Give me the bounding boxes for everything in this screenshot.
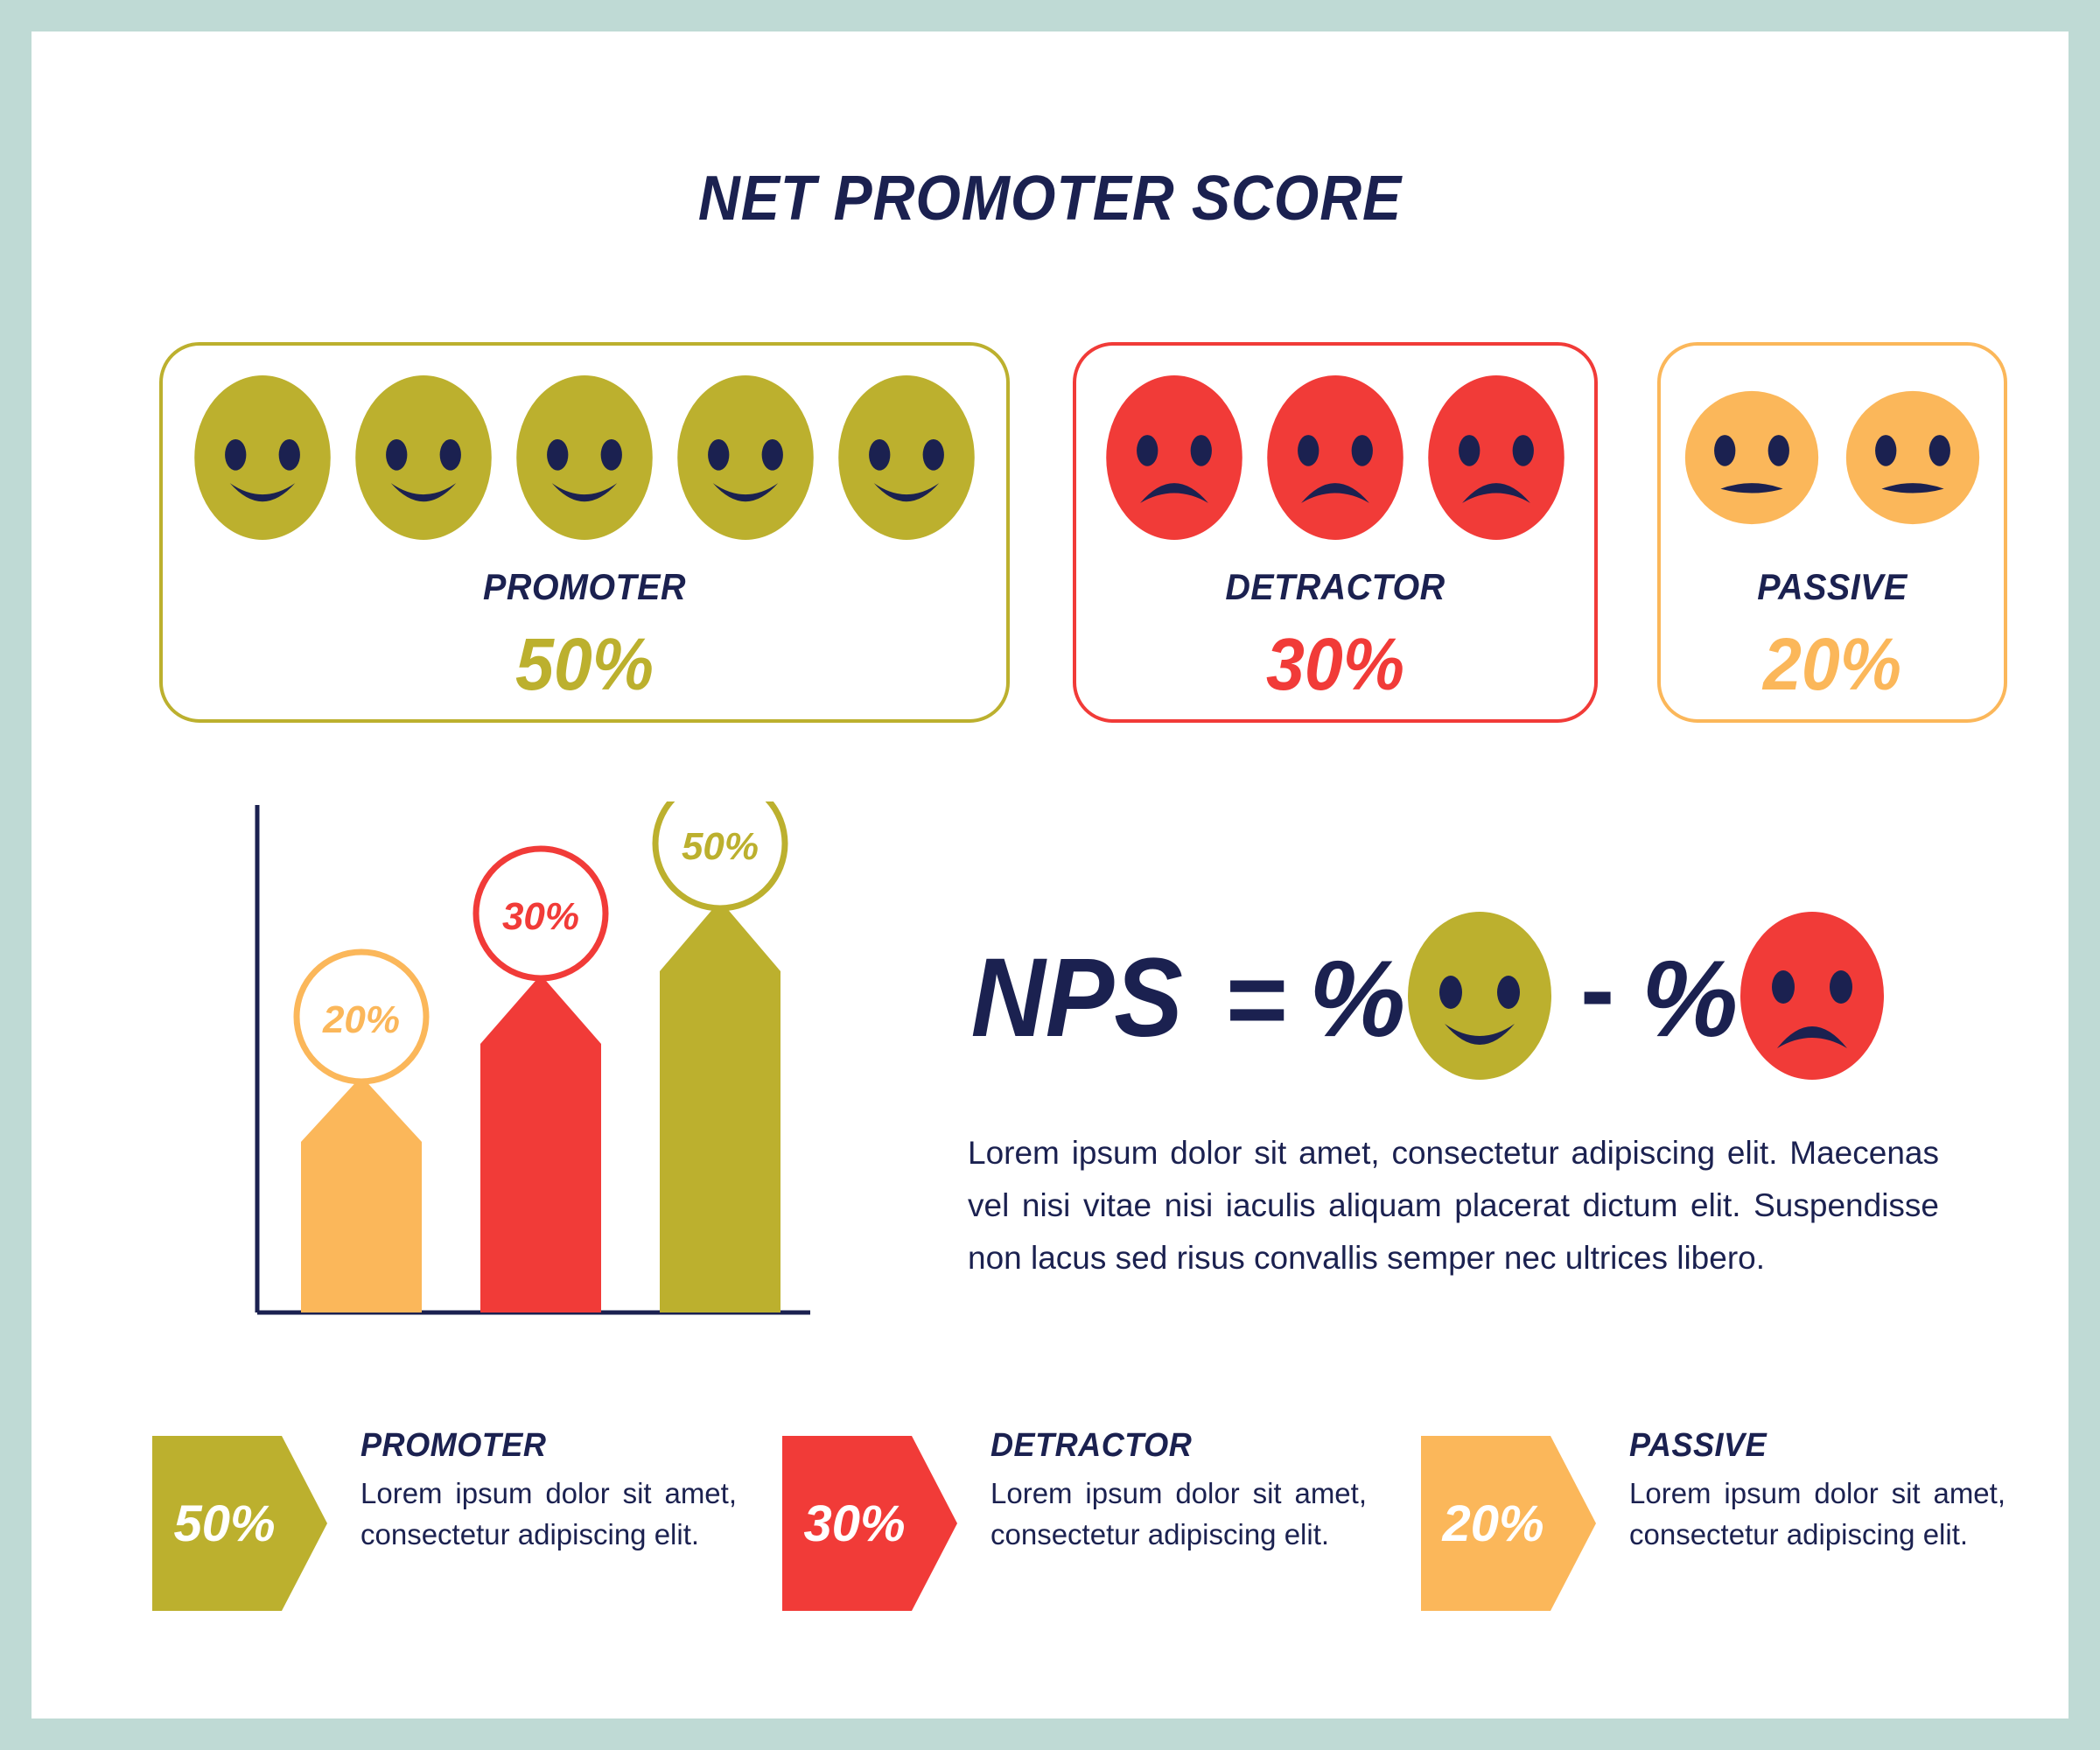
promoter-tag-shape [152, 1436, 327, 1611]
detractor-face-group [1076, 372, 1594, 543]
nps-lead-text: NPS [971, 936, 1183, 1061]
neutral-face-icon [1842, 372, 1984, 543]
legend-text-passive: Lorem ipsum dolor sit amet, consectetur … [1629, 1473, 2005, 1556]
nps-equation: NPS = % - % [968, 906, 1939, 1081]
happy-face-icon [514, 372, 655, 543]
happy-face-icon [192, 372, 333, 543]
chart-badge-passive-label: 20% [322, 998, 400, 1041]
legend-item-passive[interactable]: 20% PASSIVE Lorem ipsum dolor sit amet, … [1421, 1427, 2033, 1646]
neutral-face-icon [1681, 372, 1823, 543]
sad-face-icon [1103, 372, 1245, 543]
sad-face-icon [1740, 912, 1884, 1080]
legend-item-detractor[interactable]: 30% DETRACTOR Lorem ipsum dolor sit amet… [782, 1427, 1395, 1646]
legend-item-promoter[interactable]: 50% PROMOTER Lorem ipsum dolor sit amet,… [152, 1427, 765, 1646]
happy-face-icon [675, 372, 816, 543]
card-passive-label: PASSIVE [1671, 566, 1993, 608]
nps-percent-sign-2: % [1641, 939, 1738, 1060]
detractor-tag-shape [782, 1436, 957, 1611]
card-detractor-value: 30% [1092, 622, 1578, 707]
passive-face-group [1661, 372, 2004, 543]
happy-face-icon [353, 372, 494, 543]
chart-badge-promoter-label: 50% [682, 825, 759, 868]
summary-cards-row: PROMOTER 50% [126, 342, 1974, 723]
card-passive[interactable]: PASSIVE 20% [1657, 342, 2007, 723]
card-detractor[interactable]: DETRACTOR 30% [1073, 342, 1598, 723]
card-detractor-label: DETRACTOR [1092, 566, 1578, 608]
nps-bar-chart: 20% 30% 50% [233, 801, 845, 1326]
page-title: NET PROMOTER SCORE [113, 163, 1987, 234]
card-promoter[interactable]: PROMOTER 50% [159, 342, 1010, 723]
chart-badge-detractor-label: 30% [502, 895, 579, 938]
nps-percent-sign-1: % [1309, 939, 1405, 1060]
card-passive-value: 20% [1671, 622, 1993, 707]
sad-face-icon [1425, 372, 1567, 543]
nps-formula-block: NPS = % - % Lorem ipsum dolor sit amet, … [968, 906, 1939, 1284]
chart-bar-detractor [480, 975, 601, 1312]
nps-minus-sign: - [1580, 932, 1614, 1047]
legend-text-promoter: Lorem ipsum dolor sit amet, consectetur … [360, 1473, 737, 1556]
chart-bar-passive [301, 1076, 422, 1312]
legend-title-promoter: PROMOTER [360, 1427, 718, 1465]
card-promoter-value: 50% [188, 622, 981, 707]
happy-face-icon [1408, 912, 1551, 1080]
sad-face-icon [1264, 372, 1406, 543]
infographic-canvas: NET PROMOTER SCORE [31, 31, 2068, 1718]
legend-text-detractor: Lorem ipsum dolor sit amet, consectetur … [990, 1473, 1367, 1556]
legend-title-detractor: DETRACTOR [990, 1427, 1348, 1465]
chart-bar-promoter [660, 900, 780, 1312]
legend-row: 50% PROMOTER Lorem ipsum dolor sit amet,… [126, 1427, 2042, 1646]
nps-equals-sign: = [1226, 940, 1288, 1059]
passive-tag-shape [1421, 1436, 1596, 1611]
happy-face-icon [836, 372, 977, 543]
legend-title-passive: PASSIVE [1629, 1427, 1987, 1465]
nps-paragraph: Lorem ipsum dolor sit amet, consectetur … [968, 1127, 1939, 1284]
promoter-face-group [163, 372, 1006, 543]
card-promoter-label: PROMOTER [188, 566, 981, 608]
